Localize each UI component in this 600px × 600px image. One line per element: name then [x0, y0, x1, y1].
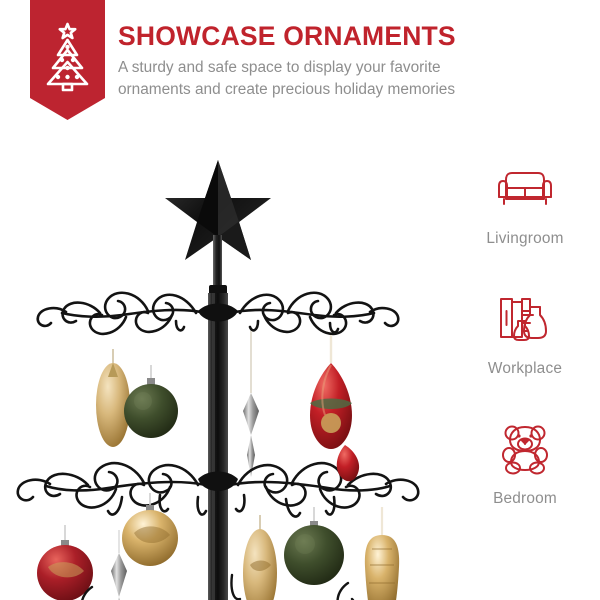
ornament-red-glitter-ball — [37, 525, 93, 600]
header-ribbon — [30, 0, 105, 120]
feature-label-livingroom: Livingroom — [450, 230, 600, 248]
ornament-green-glitter-ball — [124, 365, 178, 438]
teddy-bear-icon — [450, 420, 600, 478]
page-subtitle-line-2: ornaments and create precious holiday me… — [118, 81, 455, 98]
feature-label-bedroom: Bedroom — [450, 490, 600, 508]
product-photo-ornament-display-tree — [0, 135, 450, 600]
ornament-red-drop-small — [337, 445, 359, 481]
page-title: SHOWCASE ORNAMENTS — [118, 22, 588, 51]
ornament-red-teardrop — [310, 335, 352, 449]
ornament-gold-ball — [122, 493, 178, 566]
sofa-icon — [450, 160, 600, 218]
ornament-gold-teardrop — [96, 349, 130, 447]
feature-label-workplace: Workplace — [450, 360, 600, 378]
feature-list: Livingroom Workplace — [450, 160, 600, 550]
center-pole — [208, 293, 228, 600]
feature-livingroom: Livingroom — [450, 160, 600, 248]
feature-bedroom: Bedroom — [450, 420, 600, 508]
upper-rod — [213, 235, 222, 290]
promo-banner-canvas: SHOWCASE ORNAMENTS A sturdy and safe spa… — [0, 0, 600, 600]
feature-workplace: Workplace — [450, 290, 600, 378]
ornament-gold-teardrop-2 — [243, 515, 277, 600]
ornament-silver-finial — [243, 331, 259, 477]
page-subtitle: A sturdy and safe space to display your … — [118, 57, 588, 101]
ornament-gold-bell — [365, 507, 399, 600]
page-subtitle-line-1: A sturdy and safe space to display your … — [118, 59, 441, 76]
bookshelf-vases-icon — [450, 290, 600, 348]
header-text-block: SHOWCASE ORNAMENTS A sturdy and safe spa… — [118, 22, 588, 101]
ornament-green-glitter-ball-2 — [284, 507, 344, 585]
